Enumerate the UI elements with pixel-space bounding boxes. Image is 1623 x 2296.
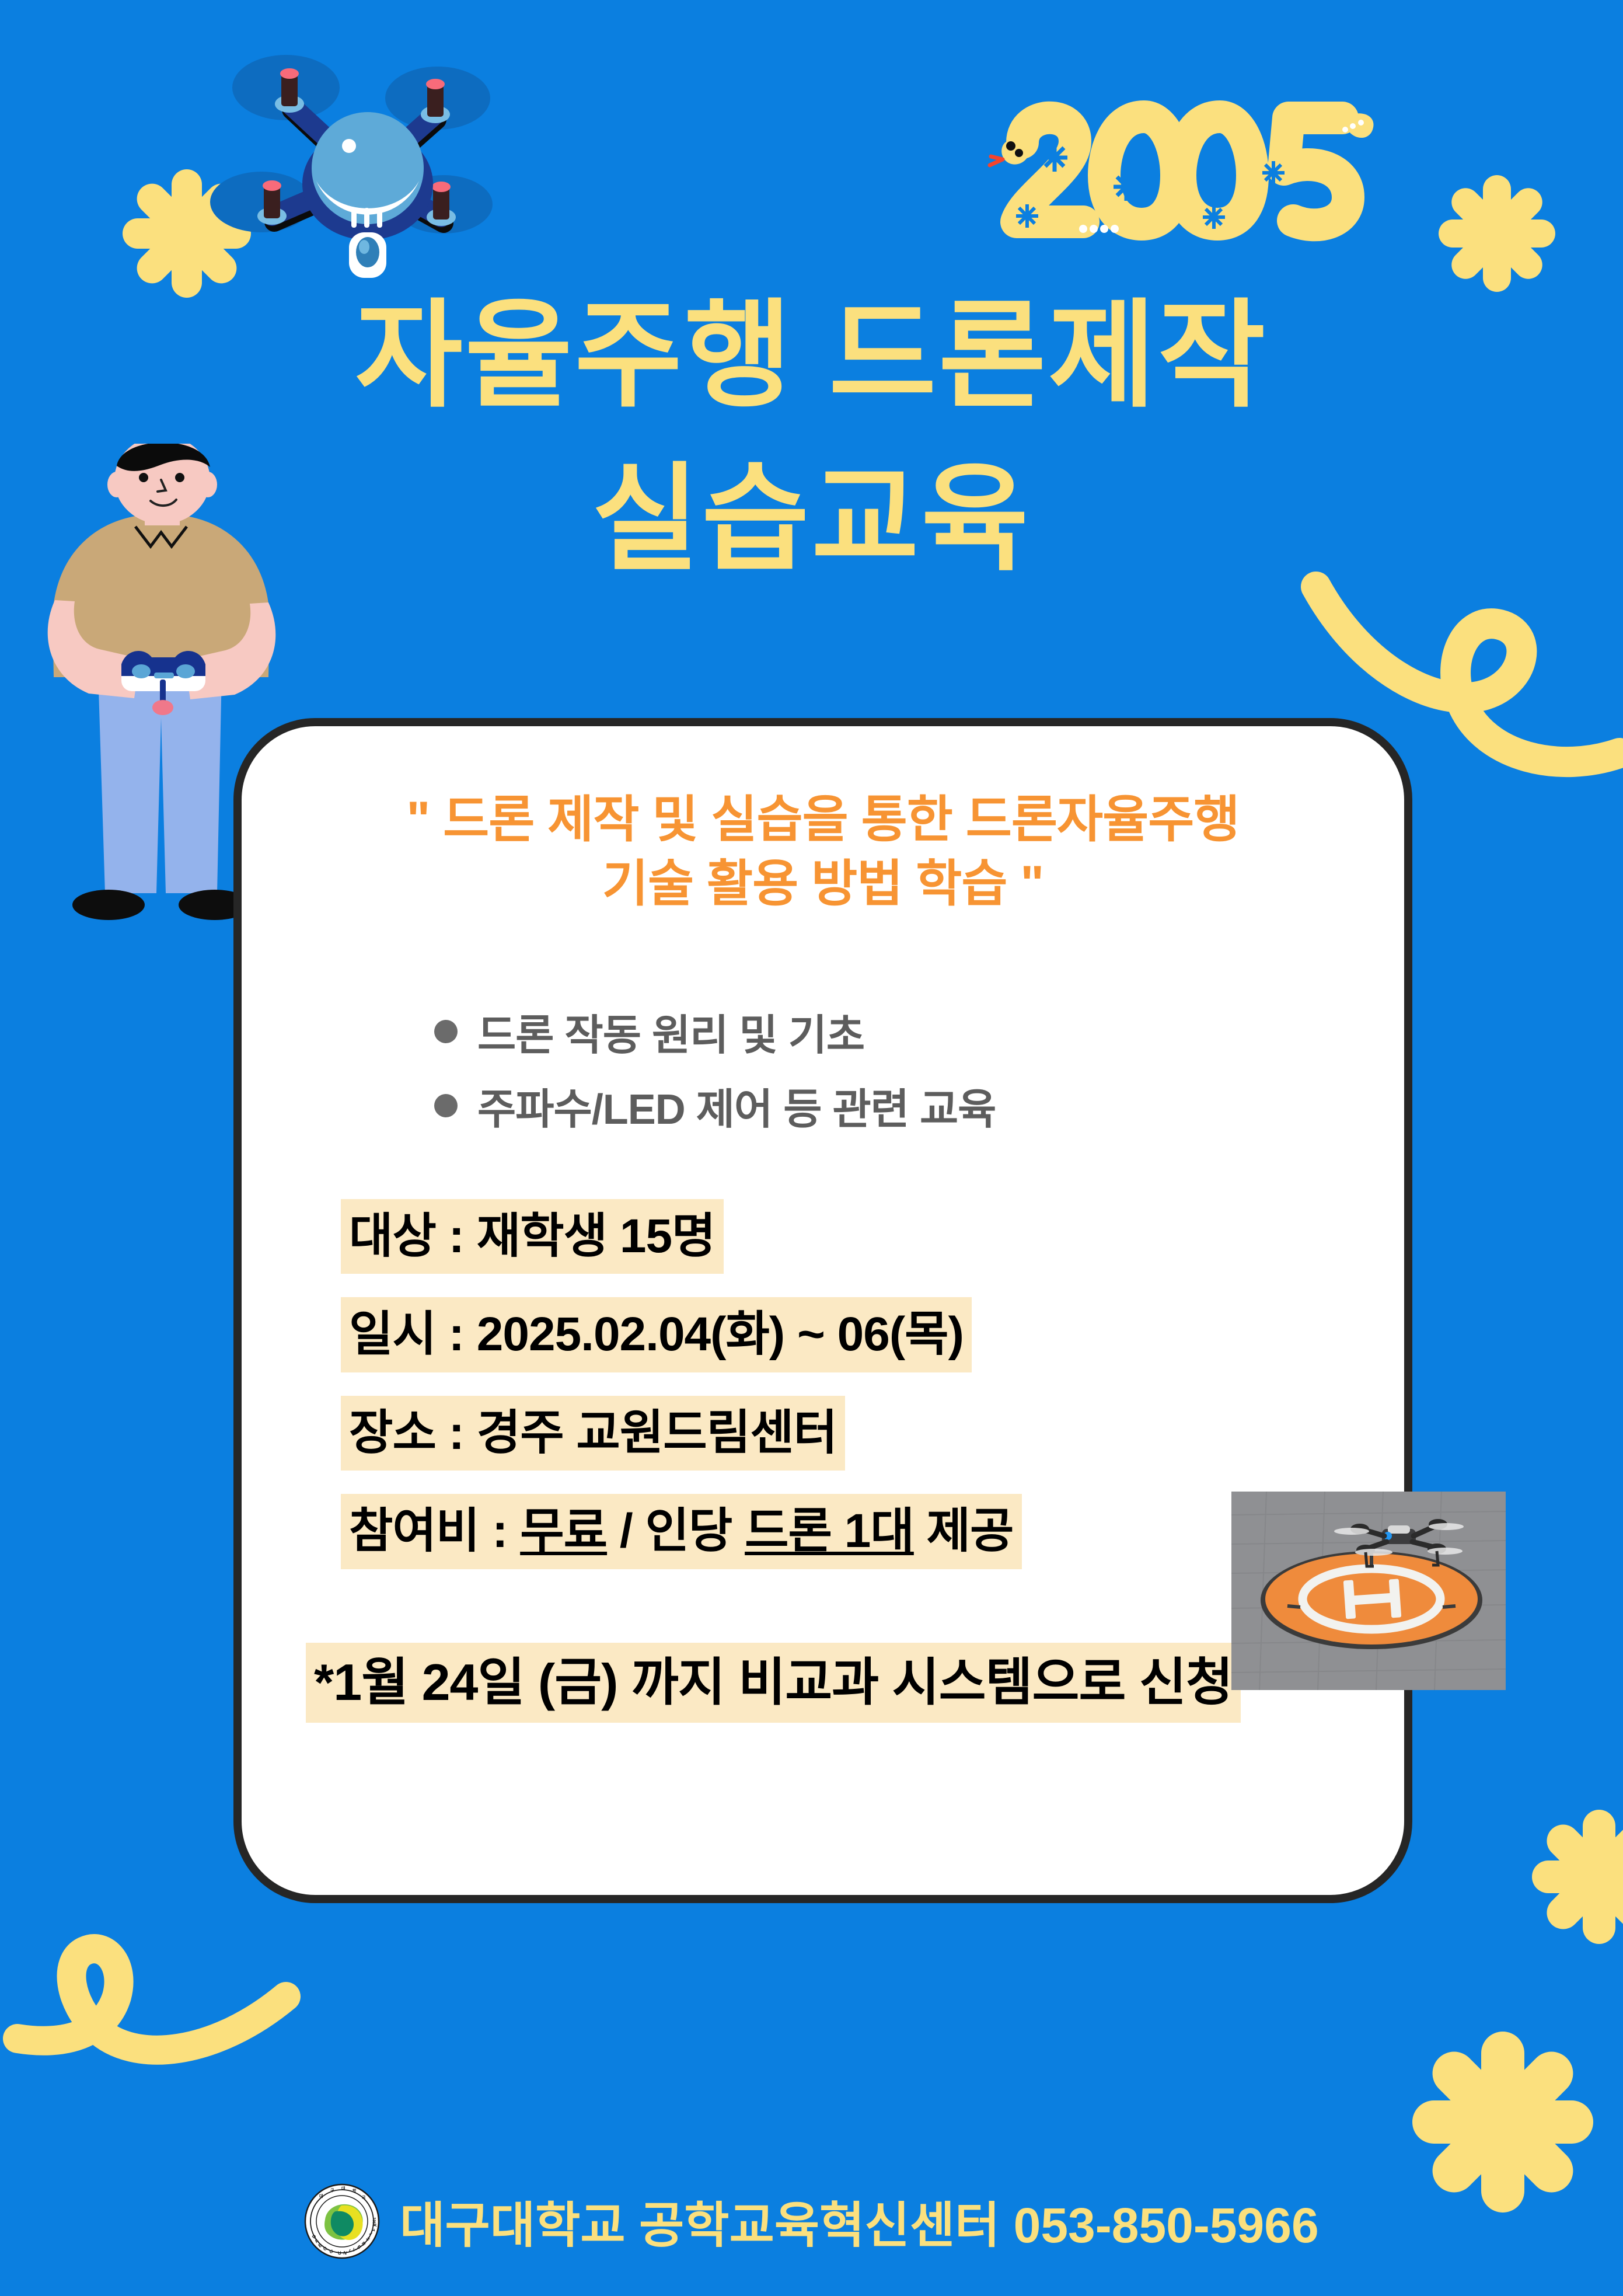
- svg-text:1956: 1956: [372, 2217, 376, 2227]
- fee-prefix: 참여비 :: [349, 1504, 520, 1558]
- bullet-item-label: 주파수/LED 제어 등 관련 교육: [477, 1075, 996, 1136]
- footer-contact-text: 대구대학교 공학교육혁신센터 053-850-5966: [400, 2186, 1318, 2257]
- quote-block: " 드론 제작 및 실습을 통한 드론자율주행 기술 활용 방법 학습 ": [242, 788, 1404, 916]
- svg-text:교: 교: [362, 2195, 366, 2200]
- fee-underline-free: 무료: [520, 1504, 607, 1558]
- info-row-target: 대상 : 재학생 15명: [341, 1199, 1022, 1274]
- quote-line-2: 기술 활용 방법 학습 ": [242, 852, 1404, 916]
- bullet-item-label: 드론 작동 원리 및 기초: [477, 1001, 864, 1062]
- info-row-location: 장소 : 경주 교원드림센터: [341, 1396, 1022, 1471]
- bullet-dot-icon: [434, 1020, 458, 1043]
- deadline-note: *1월 24일 (금) 까지 비교과 시스템으로 신청: [306, 1643, 1241, 1723]
- svg-text:대: 대: [319, 2193, 323, 2199]
- poster-title-line-1: 자율주행 드론제작: [0, 298, 1623, 414]
- info-row-target-text: 대상 : 재학생 15명: [341, 1199, 724, 1274]
- poster-title-line-1-text: 자율주행 드론제작: [0, 298, 1623, 414]
- svg-text:학: 학: [352, 2188, 357, 2193]
- svg-text:구: 구: [330, 2188, 334, 2193]
- year-2025-snake-graphic: [969, 82, 1389, 251]
- info-row-fee: 참여비 : 무료 / 인당 드론 1대 제공: [341, 1494, 1022, 1569]
- asterisk-icon-bottom-right-small: [1532, 1810, 1623, 1944]
- list-item: 주파수/LED 제어 등 관련 교육: [434, 1075, 1251, 1136]
- bullet-dot-icon: [434, 1094, 458, 1117]
- daegu-university-logo-icon: 대구 대학교 D A E G U U N I V E R S I: [304, 2183, 380, 2259]
- fee-middle: / 인당: [607, 1504, 745, 1558]
- drone-illustration-icon: [193, 35, 531, 286]
- svg-text:대: 대: [341, 2186, 345, 2191]
- fee-underline-drone: 드론 1대: [745, 1504, 914, 1558]
- swirl-decoration-left: [23, 1909, 292, 2102]
- quote-line-1: " 드론 제작 및 실습을 통한 드론자율주행: [242, 788, 1404, 852]
- info-row-location-text: 장소 : 경주 교원드림센터: [341, 1396, 845, 1471]
- deadline-note-text: *1월 24일 (금) 까지 비교과 시스템으로 신청: [306, 1643, 1241, 1723]
- poster-root: 자율주행 드론제작 실습교육: [0, 0, 1623, 2296]
- info-row-date-text: 일시 : 2025.02.04(화) ~ 06(목): [341, 1297, 972, 1372]
- info-row-date: 일시 : 2025.02.04(화) ~ 06(목): [341, 1297, 1022, 1372]
- bullet-list: 드론 작동 원리 및 기초 주파수/LED 제어 등 관련 교육: [434, 1001, 1251, 1149]
- list-item: 드론 작동 원리 및 기초: [434, 1001, 1251, 1062]
- drone-helipad-photo: [1231, 1492, 1506, 1690]
- fee-suffix: 제공: [914, 1504, 1014, 1558]
- svg-text:U: U: [338, 2250, 341, 2256]
- content-card: " 드론 제작 및 실습을 통한 드론자율주행 기술 활용 방법 학습 " 드론…: [233, 718, 1412, 1903]
- info-row-fee-text: 참여비 : 무료 / 인당 드론 1대 제공: [341, 1494, 1022, 1569]
- info-row-list: 대상 : 재학생 15명 일시 : 2025.02.04(화) ~ 06(목) …: [341, 1199, 1022, 1593]
- footer: 대구 대학교 D A E G U U N I V E R S I: [0, 2183, 1623, 2259]
- asterisk-icon-top-right: [1439, 175, 1555, 292]
